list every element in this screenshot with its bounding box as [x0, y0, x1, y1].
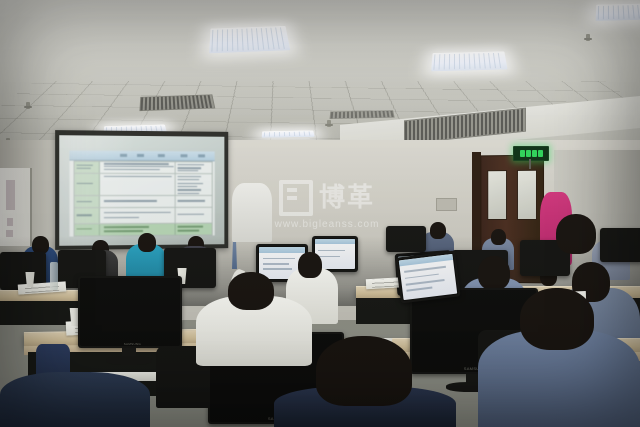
sprinkler-4: [586, 34, 590, 41]
monitor: [600, 228, 640, 262]
attendee-head: [298, 252, 322, 278]
monitor-foreground-left: SAMSUNG: [78, 276, 182, 348]
door-glass-panel: [517, 170, 537, 220]
attendee-head: [138, 233, 156, 252]
attendee-head: [316, 336, 412, 406]
presenter-tie: [232, 242, 237, 269]
ceiling-vent-mid: [330, 110, 395, 119]
water-bottle: [50, 262, 58, 290]
attendee-head: [491, 229, 506, 245]
projection-surface: [59, 135, 224, 246]
attendee-foreground-left: [0, 372, 150, 427]
slide-row: [75, 208, 212, 224]
slide-row: [75, 174, 212, 196]
attendee-head: [478, 256, 510, 290]
emergency-exit-sign: [513, 146, 549, 161]
sprinkler-1: [26, 102, 30, 109]
monitor-foot: [106, 356, 152, 365]
wall-plaque: [436, 198, 457, 211]
ceiling-light-2: [431, 51, 507, 71]
presenter-shirt: [232, 183, 272, 242]
attendee-head: [430, 222, 446, 239]
monitor-lit-document: [395, 251, 460, 304]
slide-row: [75, 196, 212, 208]
ceiling-light-1: [209, 26, 290, 53]
sprinkler-3: [327, 120, 331, 127]
wall-note: [6, 180, 15, 210]
wall-note: [7, 218, 13, 226]
attendee-head: [228, 272, 274, 310]
projection-screen: [55, 130, 228, 250]
ceiling-light-3: [596, 4, 640, 21]
projected-slide: [69, 151, 214, 237]
exit-sign-mount: [529, 159, 531, 169]
wall-board: [0, 168, 32, 246]
slide-table: [74, 160, 213, 236]
door-glass-panel: [487, 170, 507, 220]
ceiling-light-5: [262, 130, 315, 137]
classroom-photo: SAMSUNG SAMSUNG SAMSUNG: [0, 0, 640, 427]
attendee-head: [556, 214, 596, 254]
attendee-head: [520, 288, 594, 350]
monitor: [386, 226, 426, 252]
ceiling-vent-left: [139, 94, 215, 111]
slide-row: [75, 161, 212, 174]
